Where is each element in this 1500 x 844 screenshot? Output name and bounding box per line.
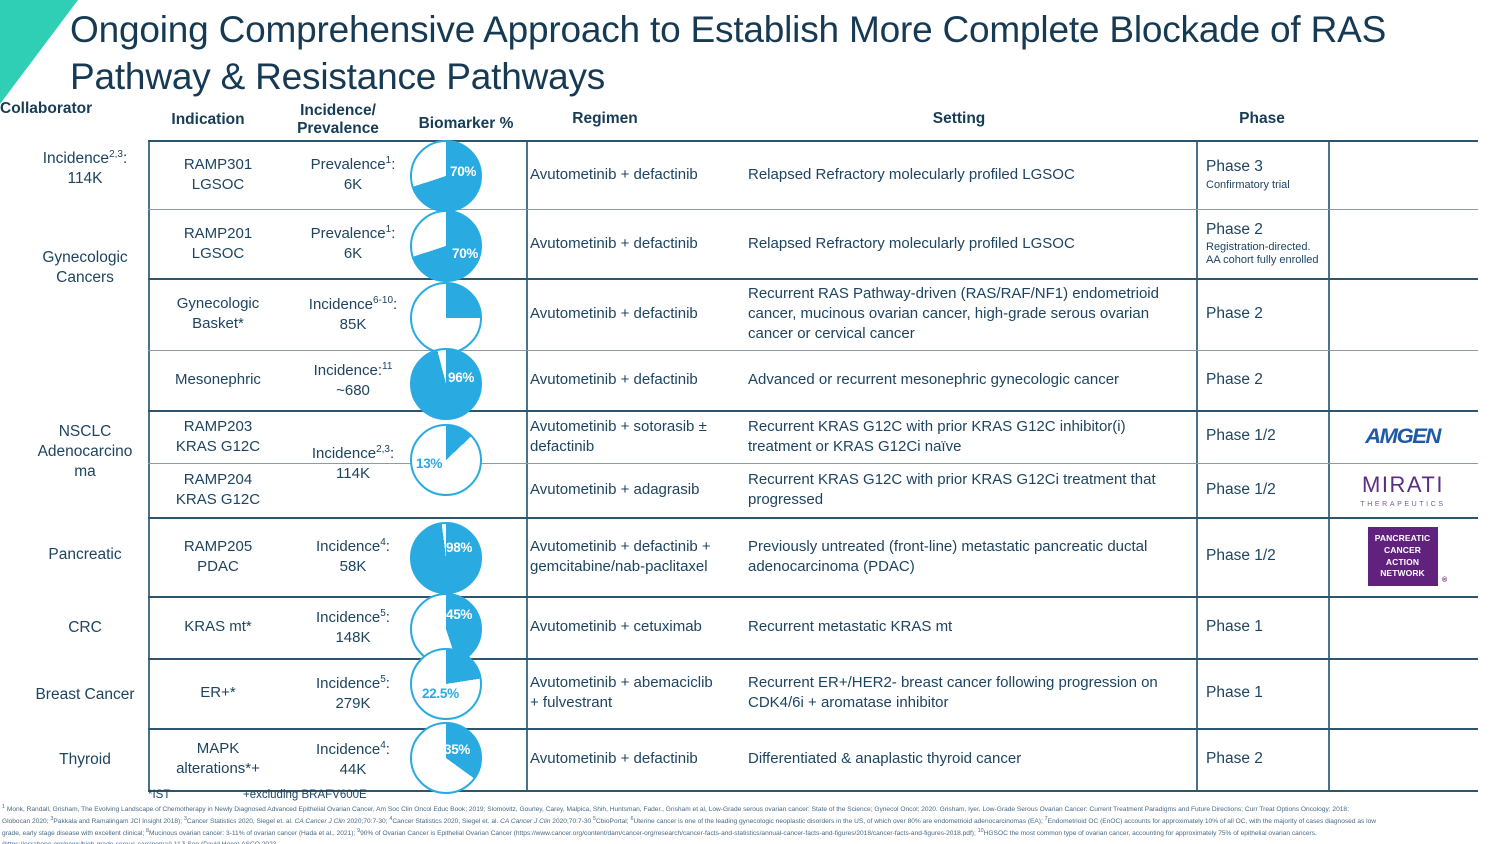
pie-value-label: 96% xyxy=(448,370,474,385)
cell-incidence-1: Prevalence1:6K xyxy=(288,209,418,278)
cell-phase-6: Phase 1/2 xyxy=(1196,517,1328,596)
phase-label: Phase 1 xyxy=(1206,617,1263,638)
pie-value-label: 98% xyxy=(446,540,472,555)
cell-regimen-1: Avutometinib + defactinib xyxy=(526,209,726,278)
group-label-crc: CRC xyxy=(22,618,148,638)
cell-phase-4: Phase 1/2 xyxy=(1196,410,1328,463)
group-incidence-gyn: Incidence2,3:114K xyxy=(22,148,148,189)
cell-indication-8: ER+* xyxy=(148,658,288,728)
cell-phase-8: Phase 1 xyxy=(1196,658,1328,728)
pie-slice: 70% xyxy=(410,210,482,282)
cell-regimen-8: Avutometinib + abemaciclib + fulvestrant xyxy=(526,658,726,728)
pie-value-label: 13% xyxy=(416,456,442,471)
cell-setting-7: Recurrent metastatic KRAS mt xyxy=(726,596,1196,658)
cell-phase-1: Phase 2Registration-directed.AA cohort f… xyxy=(1196,209,1328,278)
mirati-logo-tagline: THERAPEUTICS xyxy=(1360,500,1445,509)
reference-line-3: grade, early stage disease with excellen… xyxy=(2,827,1498,839)
pie-slice: 98% xyxy=(410,522,482,594)
cell-regimen-5: Avutometinib + adagrasib xyxy=(526,463,726,517)
cell-setting-0: Relapsed Refractory molecularly profiled… xyxy=(726,140,1196,209)
cell-collaborator-5: MIRATITHERAPEUTICS xyxy=(1328,463,1478,517)
biomarker-pie-2: 25% xyxy=(410,282,482,354)
cell-regimen-7: Avutometinib + cetuximab xyxy=(526,596,726,658)
cell-incidence-2: Incidence6-10:85K xyxy=(288,278,418,350)
cell-incidence-6: Incidence4:58K xyxy=(288,517,418,596)
cell-setting-3: Advanced or recurrent mesonephric gyneco… xyxy=(726,350,1196,410)
biomarker-pie-4: 13% xyxy=(410,424,482,496)
pie-value-label: 25% xyxy=(448,294,474,309)
slide-root: Ongoing Comprehensive Approach to Establ… xyxy=(0,0,1500,844)
cell-incidence-8: Incidence5:279K xyxy=(288,658,418,728)
phase-sublabel: Registration-directed.AA cohort fully en… xyxy=(1206,241,1319,267)
cell-incidence-9: Incidence4:44K xyxy=(288,728,418,790)
column-header-regimen: Regimen xyxy=(520,110,690,128)
cell-setting-1: Relapsed Refractory molecularly profiled… xyxy=(726,209,1196,278)
cell-phase-7: Phase 1 xyxy=(1196,596,1328,658)
cell-incidence-4: Incidence2,3:114K xyxy=(288,410,418,517)
pancreatic-cancer-action-network-logo: PANCREATICCANCERACTIONNETWORK® xyxy=(1368,527,1438,586)
page-title: Ongoing Comprehensive Approach to Establ… xyxy=(70,6,1470,101)
phase-label: Phase 2 xyxy=(1206,370,1263,391)
cell-incidence-0: Prevalence1:6K xyxy=(288,140,418,209)
cell-regimen-3: Avutometinib + defactinib xyxy=(526,350,726,410)
cell-incidence-3: Incidence:11~680 xyxy=(288,350,418,410)
cell-setting-5: Recurrent KRAS G12C with prior KRAS G12C… xyxy=(726,463,1196,517)
cell-phase-2: Phase 2 xyxy=(1196,278,1328,350)
biomarker-pie-1: 70% xyxy=(410,210,482,282)
column-header-collaborator: Collaborator xyxy=(0,100,92,118)
reference-line-4: (https://ocrahope.org/news/high-grade-se… xyxy=(2,840,1498,844)
cell-regimen-2: Avutometinib + defactinib xyxy=(526,278,726,350)
column-header-setting: Setting xyxy=(726,110,1192,128)
cell-collaborator-6: PANCREATICCANCERACTIONNETWORK® xyxy=(1328,517,1478,596)
cell-regimen-6: Avutometinib + defactinib + gemcitabine/… xyxy=(526,517,726,596)
group-label-breast: Breast Cancer xyxy=(22,685,148,705)
biomarker-pie-8: 22.5% xyxy=(410,648,482,720)
group-label-gynecologic: GynecologicCancers xyxy=(22,248,148,288)
biomarker-pie-9: 35% xyxy=(410,722,482,794)
phase-label: Phase 3 xyxy=(1206,157,1263,178)
mirati-logo: MIRATITHERAPEUTICS xyxy=(1360,470,1445,510)
column-header-incidence-prevalence: Incidence/Prevalence xyxy=(268,102,408,138)
biomarker-pie-0: 70% xyxy=(410,140,482,212)
cell-phase-3: Phase 2 xyxy=(1196,350,1328,410)
pie-value-label: 35% xyxy=(444,742,470,757)
phase-label: Phase 2 xyxy=(1206,749,1263,770)
reference-line-1: 1 Monk, Randall, Grisham, The Evolving L… xyxy=(2,803,1498,815)
pie-value-label: 22.5% xyxy=(422,686,459,701)
reference-line-2: Globocan 2020; 3Pakkala and Ramalingam J… xyxy=(2,815,1498,827)
cell-regimen-0: Avutometinib + defactinib xyxy=(526,140,726,209)
cell-indication-7: KRAS mt* xyxy=(148,596,288,658)
phase-label: Phase 2 xyxy=(1206,220,1263,241)
pie-slice: 35% xyxy=(410,722,482,794)
cell-indication-3: Mesonephric xyxy=(148,350,288,410)
registered-mark: ® xyxy=(1442,576,1447,586)
pie-slice: 13% xyxy=(410,424,482,496)
cell-collaborator-4: AMGEN xyxy=(1328,410,1478,463)
group-label-pancreatic: Pancreatic xyxy=(22,545,148,565)
cell-indication-1: RAMP201LGSOC xyxy=(148,209,288,278)
column-header-biomarker: Biomarker % xyxy=(410,115,522,133)
biomarker-pie-3: 96% xyxy=(410,348,482,420)
biomarker-pie-6: 98% xyxy=(410,522,482,594)
cell-indication-2: GynecologicBasket* xyxy=(148,278,288,350)
pie-value-label: 70% xyxy=(452,246,478,261)
cell-setting-8: Recurrent ER+/HER2- breast cancer follow… xyxy=(726,658,1196,728)
cell-indication-9: MAPKalterations*+ xyxy=(148,728,288,790)
pipeline-table: Incidence2,3:114KGynecologicCancersNSCLC… xyxy=(22,140,1478,790)
phase-label: Phase 1/2 xyxy=(1206,426,1276,447)
references-block: 1 Monk, Randall, Grisham, The Evolving L… xyxy=(2,803,1498,844)
cell-phase-5: Phase 1/2 xyxy=(1196,463,1328,517)
note-ist: *IST xyxy=(148,789,170,801)
cell-indication-4: RAMP203KRAS G12C xyxy=(148,410,288,463)
cell-setting-6: Previously untreated (front-line) metast… xyxy=(726,517,1196,596)
pie-slice: 25% xyxy=(410,282,482,354)
pie-slice: 22.5% xyxy=(410,648,482,720)
cell-indication-6: RAMP205PDAC xyxy=(148,517,288,596)
cell-incidence-7: Incidence5:148K xyxy=(288,596,418,658)
note-brafv600e: +excluding BRAFV600E xyxy=(243,789,367,801)
pie-slice: 96% xyxy=(410,348,482,420)
cell-setting-9: Differentiated & anaplastic thyroid canc… xyxy=(726,728,1196,790)
teal-corner-decoration xyxy=(0,0,78,104)
group-label-thyroid: Thyroid xyxy=(22,750,148,770)
column-header-indication: Indication xyxy=(148,111,268,129)
table-cells: Incidence2,3:114KGynecologicCancersNSCLC… xyxy=(22,140,1478,790)
phase-sublabel: Confirmatory trial xyxy=(1206,179,1290,192)
cell-indication-5: RAMP204KRAS G12C xyxy=(148,463,288,517)
phase-label: Phase 2 xyxy=(1206,304,1263,325)
cell-setting-2: Recurrent RAS Pathway-driven (RAS/RAF/NF… xyxy=(726,278,1196,350)
pie-slice: 70% xyxy=(410,140,482,212)
phase-label: Phase 1 xyxy=(1206,683,1263,704)
ocrahope-link[interactable]: https://ocrahope.org/news/high-grade-ser… xyxy=(4,841,170,844)
cell-regimen-4: Avutometinib + sotorasib ± defactinib xyxy=(526,410,726,463)
cell-phase-9: Phase 2 xyxy=(1196,728,1328,790)
mirati-logo-wordmark: MIRATI xyxy=(1360,470,1445,499)
pie-value-label: 45% xyxy=(446,607,472,622)
pie-value-label: 70% xyxy=(450,164,476,179)
phase-label: Phase 1/2 xyxy=(1206,546,1276,567)
amgen-logo: AMGEN xyxy=(1366,423,1441,451)
cell-setting-4: Recurrent KRAS G12C with prior KRAS G12C… xyxy=(726,410,1196,463)
phase-label: Phase 1/2 xyxy=(1206,480,1276,501)
cell-indication-0: RAMP301LGSOC xyxy=(148,140,288,209)
cell-phase-0: Phase 3Confirmatory trial xyxy=(1196,140,1328,209)
group-label-nsclc: NSCLCAdenocarcinoma xyxy=(22,422,148,482)
table-header-row: Indication Incidence/Prevalence Biomarke… xyxy=(0,100,1500,138)
column-header-phase: Phase xyxy=(1196,110,1328,128)
reference-line-4-tail: ) 11Ji Son (David Hong) ASCO 2023 xyxy=(170,841,277,844)
cell-regimen-9: Avutometinib + defactinib xyxy=(526,728,726,790)
